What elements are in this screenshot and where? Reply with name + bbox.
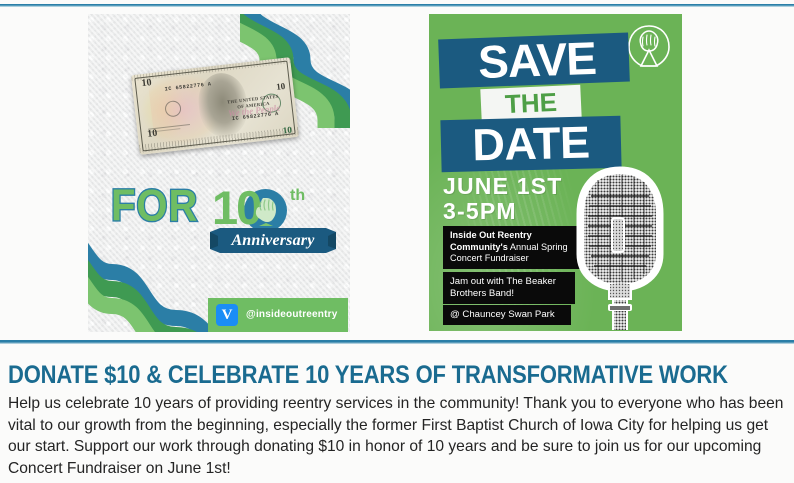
anniversary-ordinal: th xyxy=(290,188,305,204)
microphone-icon xyxy=(564,166,676,331)
article-body: Help us celebrate 10 years of providing … xyxy=(8,393,788,479)
event-datetime: JUNE 1ST 3-5PM xyxy=(443,174,563,224)
save-the-date-poster[interactable]: SAVE THE DATE JUNE 1ST 3-5PM Inside Out … xyxy=(429,14,682,331)
org-logo-icon xyxy=(624,22,674,72)
venmo-badge[interactable]: V @insideoutreentry xyxy=(208,298,348,332)
date-text: DATE xyxy=(440,116,621,172)
anniversary-ribbon-label: Anniversary xyxy=(210,231,336,251)
section-divider-rule xyxy=(0,340,794,344)
page-title: DONATE $10 & CELEBRATE 10 YEARS OF TRANS… xyxy=(8,361,728,390)
event-band-block: Jam out with The Beaker Brothers Band! xyxy=(443,272,575,304)
venmo-handle: @insideoutreentry xyxy=(246,310,338,320)
image-band: 10 10 10 10 IC 65822776 A IC 65822776 A … xyxy=(0,9,794,337)
top-divider-rule xyxy=(0,4,794,7)
bill-denomination-top-left: 10 xyxy=(141,78,152,89)
event-venue-block: @ Chauncey Swan Park xyxy=(443,305,571,325)
bill-denomination-right: 10 xyxy=(276,82,286,92)
event-time: 3-5PM xyxy=(443,199,563,224)
event-date: JUNE 1ST xyxy=(443,173,563,199)
donation-graphic[interactable]: 10 10 10 10 IC 65822776 A IC 65822776 A … xyxy=(88,14,350,332)
venmo-icon: V xyxy=(216,304,238,326)
for-word-text: FOR xyxy=(111,184,198,229)
anniversary-logo: 10 th Anniversary xyxy=(210,186,336,258)
save-text: SAVE xyxy=(446,32,628,89)
newsletter-article: 10 10 10 10 IC 65822776 A IC 65822776 A … xyxy=(0,0,794,483)
clasped-hands-icon xyxy=(250,193,282,229)
